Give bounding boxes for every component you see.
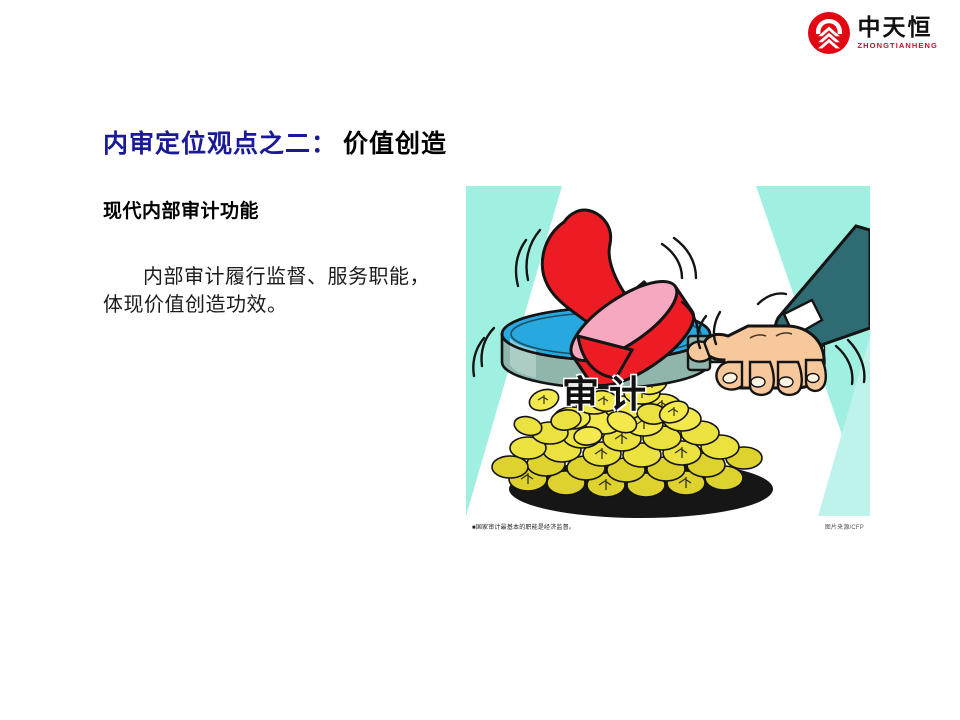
body-paragraph: 内部审计履行监督、服务职能，体现价值创造功效。: [103, 263, 433, 320]
presentation-slide: 中天恒 ZHONGTIANHENG 内审定位观点之二：价值创造 现代内部审计功能…: [0, 0, 960, 720]
audit-magnifier-stamp-coins-graphic: [466, 186, 870, 536]
illustration-caption: ■国家审计最基本的职能是经济监督。: [472, 522, 575, 531]
illustration-credit: 图片来源/CFP: [825, 522, 864, 531]
company-logo: 中天恒 ZHONGTIANHENG: [808, 12, 938, 54]
body-heading: 现代内部审计功能: [103, 196, 433, 223]
page-title-tail: 价值创造: [343, 131, 447, 158]
logo-wordmark: 中天恒 ZHONGTIANHENG: [857, 16, 938, 50]
page-title: 内审定位观点之二：价值创造: [103, 124, 447, 160]
page-title-lead: 内审定位观点之二：: [103, 131, 337, 158]
zhongtianheng-mountain-logo-icon: [808, 12, 850, 54]
logo-english-name: ZHONGTIANHENG: [857, 42, 938, 50]
audit-illustration: 审计 ■国家审计最基本的职能是经济监督。 图片来源/CFP: [466, 186, 870, 536]
body-text-column: 现代内部审计功能 内部审计履行监督、服务职能，体现价值创造功效。: [103, 196, 433, 320]
logo-chinese-name: 中天恒: [857, 16, 938, 39]
